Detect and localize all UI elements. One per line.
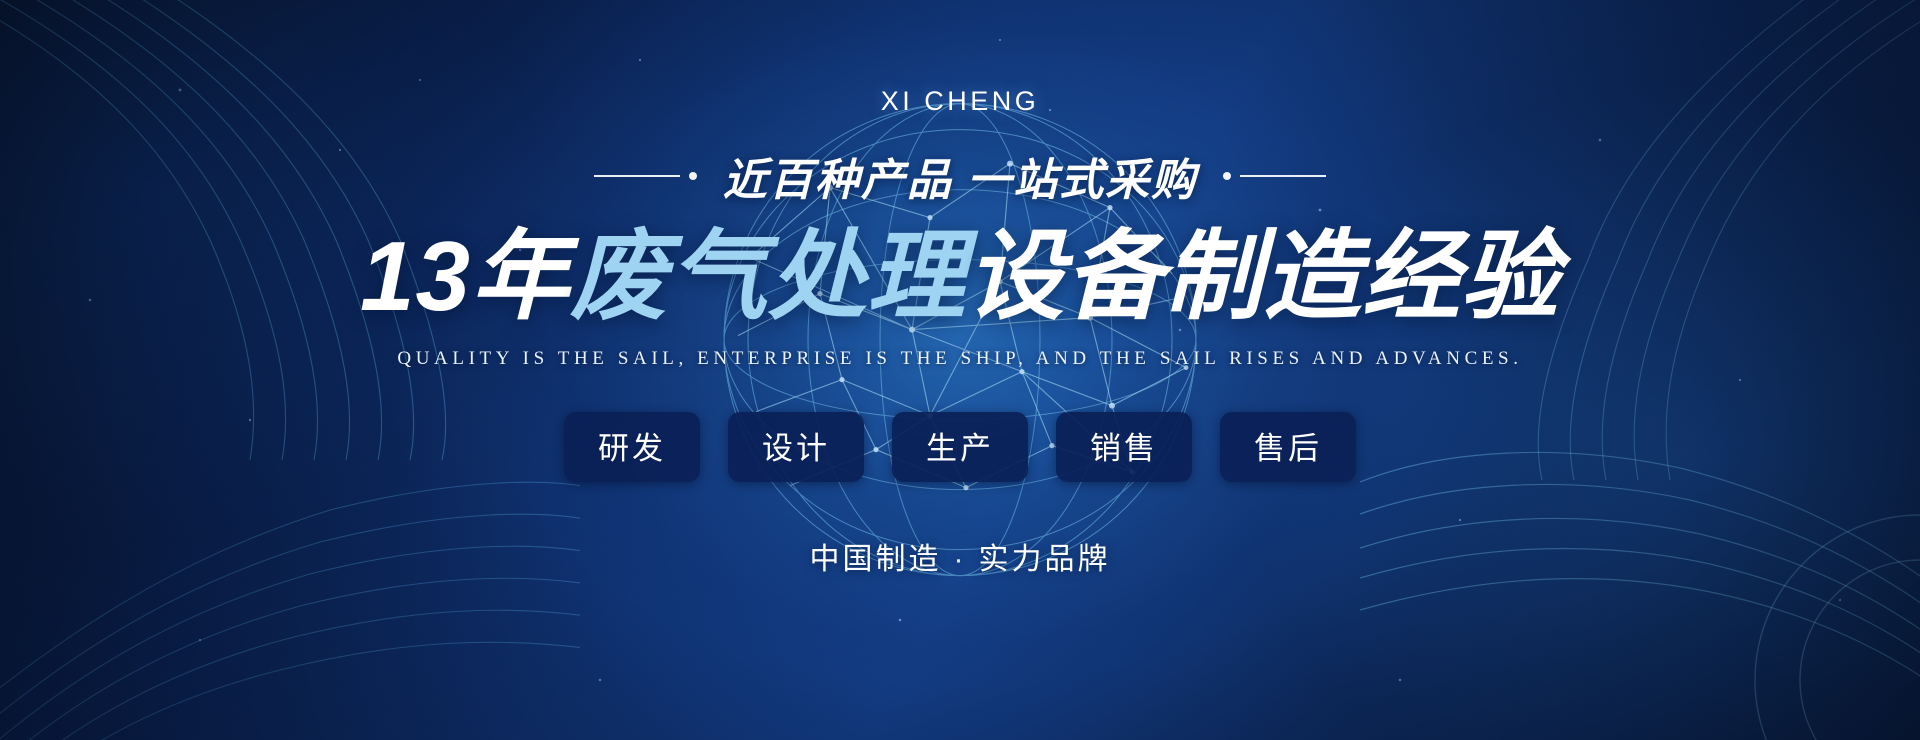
service-pill-aftersales[interactable]: 售后 [1220, 412, 1356, 482]
deco-line-right [1240, 175, 1326, 177]
headline-lead: 13年 [360, 221, 570, 331]
headline-tail: 设备制造经验 [966, 221, 1560, 331]
service-pill-design[interactable]: 设计 [728, 412, 864, 482]
deco-dot-left [689, 172, 697, 180]
deco-dot-right [1223, 172, 1231, 180]
hero-banner: XI CHENG 近百种产品 一站式采购 13年废气处理设备制造经验 QUALI… [0, 0, 1920, 740]
footer-tagline: 中国制造·实力品牌 [810, 534, 1111, 578]
deco-right [1223, 172, 1326, 180]
headline-accent: 废气处理 [570, 221, 966, 331]
service-pill-rd[interactable]: 研发 [564, 412, 700, 482]
banner-subtitle: 近百种产品 一站式采购 [723, 144, 1197, 208]
service-pill-production[interactable]: 生产 [892, 412, 1028, 482]
brand-label: XI CHENG [881, 86, 1040, 117]
banner-content: XI CHENG 近百种产品 一站式采购 13年废气处理设备制造经验 QUALI… [0, 0, 1920, 740]
english-tagline: QUALITY IS THE SAIL, ENTERPRISE IS THE S… [397, 348, 1522, 370]
footer-right-text: 实力品牌 [979, 543, 1111, 576]
footer-separator: · [942, 543, 979, 576]
footer-left-text: 中国制造 [810, 543, 942, 576]
service-pill-sales[interactable]: 销售 [1056, 412, 1192, 482]
service-pill-list: 研发 设计 生产 销售 售后 [564, 412, 1356, 482]
banner-headline: 13年废气处理设备制造经验 [360, 224, 1560, 330]
deco-line-left [594, 175, 680, 177]
deco-left [594, 172, 697, 180]
subtitle-row: 近百种产品 一站式采购 [594, 144, 1326, 208]
